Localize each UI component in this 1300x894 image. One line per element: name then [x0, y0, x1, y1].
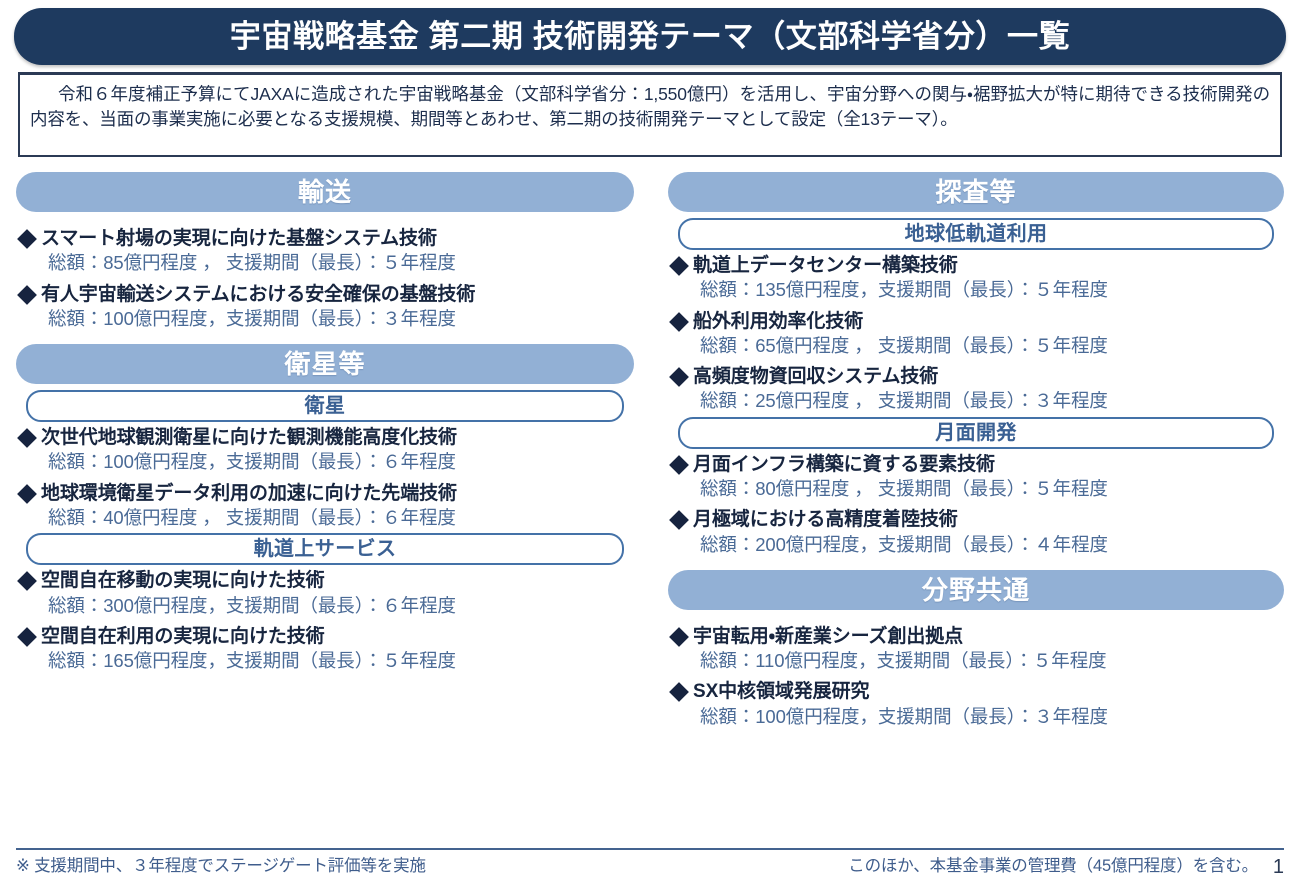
theme-heading: 宇宙転用・新産業シーズ創出拠点: [672, 626, 1284, 648]
theme-detail: 総額：65億円程度 ， 支援期間（最長）：５年程度: [700, 334, 1284, 357]
theme-item: 船外利用効率化技術総額：65億円程度 ， 支援期間（最長）：５年程度: [668, 311, 1284, 358]
diamond-bullet-icon: [17, 627, 37, 647]
section-header-label: 衛星等: [284, 351, 365, 377]
theme-detail: 総額：100億円程度，支援期間（最長）：６年程度: [48, 450, 634, 473]
theme-item: 軌道上データセンター構築技術総額：135億円程度，支援期間（最長）：５年程度: [668, 255, 1284, 302]
slide-page: 宇宙戦略基金 第二期 技術開発テーマ（文部科学省分）一覧 令和６年度補正予算にて…: [0, 0, 1300, 894]
theme-detail: 総額：80億円程度 ， 支援期間（最長）：５年程度: [700, 477, 1284, 500]
diamond-bullet-icon: [17, 229, 37, 249]
section-header-label: 探査等: [935, 179, 1016, 205]
subsection-header-衛星: 衛星: [26, 390, 624, 422]
footer-divider: [16, 848, 1284, 850]
theme-heading: 有人宇宙輸送システムにおける安全確保の基盤技術: [20, 284, 634, 306]
diamond-bullet-icon: [669, 312, 689, 332]
spacer: [668, 616, 1284, 626]
theme-title: 空間自在移動の実現に向けた技術: [41, 570, 325, 592]
section-header-探査等: 探査等: [668, 172, 1284, 212]
diamond-bullet-icon: [669, 510, 689, 530]
theme-title: 地球環境衛星データ利用の加速に向けた先端技術: [41, 483, 457, 505]
theme-heading: 月極域における高精度着陸技術: [672, 509, 1284, 531]
theme-detail: 総額：165億円程度，支援期間（最長）：５年程度: [48, 649, 634, 672]
left-column: 輸送スマート射場の実現に向けた基盤システム技術総額：85億円程度 ， 支援期間（…: [16, 172, 634, 672]
subsection-header-label: 軌道上サービス: [254, 539, 397, 559]
page-title: 宇宙戦略基金 第二期 技術開発テーマ（文部科学省分）一覧: [230, 21, 1071, 52]
theme-heading: 地球環境衛星データ利用の加速に向けた先端技術: [20, 483, 634, 505]
theme-item: 月極域における高精度着陸技術総額：200億円程度，支援期間（最長）：４年程度: [668, 509, 1284, 556]
theme-title: 有人宇宙輸送システムにおける安全確保の基盤技術: [41, 284, 475, 306]
theme-title: 船外利用効率化技術: [693, 311, 863, 333]
theme-heading: 月面インフラ構築に資する要素技術: [672, 454, 1284, 476]
theme-item: 空間自在移動の実現に向けた技術総額：300億円程度，支援期間（最長）：６年程度: [16, 570, 634, 617]
theme-item: SX中核領域発展研究総額：100億円程度，支援期間（最長）：３年程度: [668, 681, 1284, 728]
theme-title: 高頻度物資回収システム技術: [693, 366, 938, 388]
diamond-bullet-icon: [17, 484, 37, 504]
theme-detail: 総額：25億円程度 ， 支援期間（最長）：３年程度: [700, 389, 1284, 412]
footer-right-group: このほか、本基金事業の管理費（45億円程度）を含む。 1: [848, 857, 1284, 877]
diamond-bullet-icon: [669, 455, 689, 475]
theme-list: スマート射場の実現に向けた基盤システム技術総額：85億円程度 ， 支援期間（最長…: [16, 228, 634, 330]
diamond-bullet-icon: [669, 682, 689, 702]
summary-box: 令和６年度補正予算にてJAXAに造成された宇宙戦略基金（文部科学省分：1,550…: [18, 72, 1282, 157]
theme-heading: SX中核領域発展研究: [672, 681, 1284, 703]
theme-detail: 総額：40億円程度 ， 支援期間（最長）：６年程度: [48, 506, 634, 529]
theme-title: 宇宙転用・新産業シーズ創出拠点: [693, 626, 963, 648]
diamond-bullet-icon: [669, 367, 689, 387]
subsection-header-label: 地球低軌道利用: [905, 224, 1048, 244]
section-header-label: 輸送: [298, 179, 352, 205]
summary-text: 令和６年度補正予算にてJAXAに造成された宇宙戦略基金（文部科学省分：1,550…: [30, 82, 1270, 132]
section-header-分野共通: 分野共通: [668, 570, 1284, 610]
theme-heading: 船外利用効率化技術: [672, 311, 1284, 333]
section-header-label: 分野共通: [922, 577, 1030, 603]
diamond-bullet-icon: [669, 627, 689, 647]
page-number: 1: [1272, 857, 1284, 877]
theme-detail: 総額：100億円程度，支援期間（最長）：３年程度: [700, 705, 1284, 728]
diamond-bullet-icon: [17, 571, 37, 591]
footer: ※ 支援期間中、３年程度でステージゲート評価等を実施 このほか、本基金事業の管理…: [16, 857, 1284, 877]
theme-heading: スマート射場の実現に向けた基盤システム技術: [20, 228, 634, 250]
subsection-header-地球低軌道利用: 地球低軌道利用: [678, 218, 1274, 250]
theme-item: 宇宙転用・新産業シーズ創出拠点総額：110億円程度，支援期間（最長）：５年程度: [668, 626, 1284, 673]
theme-title: スマート射場の実現に向けた基盤システム技術: [41, 228, 437, 250]
footer-note-right: このほか、本基金事業の管理費（45億円程度）を含む。: [848, 857, 1258, 877]
theme-item: 有人宇宙輸送システムにおける安全確保の基盤技術総額：100億円程度，支援期間（最…: [16, 284, 634, 331]
subsection-header-label: 衛星: [305, 396, 346, 416]
theme-detail: 総額：85億円程度 ， 支援期間（最長）：５年程度: [48, 251, 634, 274]
theme-detail: 総額：300億円程度，支援期間（最長）：６年程度: [48, 594, 634, 617]
section-header-衛星等: 衛星等: [16, 344, 634, 384]
theme-detail: 総額：110億円程度，支援期間（最長）：５年程度: [700, 649, 1284, 672]
theme-item: 空間自在利用の実現に向けた技術総額：165億円程度，支援期間（最長）：５年程度: [16, 626, 634, 673]
spacer: [16, 218, 634, 228]
theme-item: 高頻度物資回収システム技術総額：25億円程度 ， 支援期間（最長）：３年程度: [668, 366, 1284, 413]
theme-detail: 総額：200億円程度，支援期間（最長）：４年程度: [700, 533, 1284, 556]
diamond-bullet-icon: [669, 256, 689, 276]
theme-title: 次世代地球観測衛星に向けた観測機能高度化技術: [41, 427, 457, 449]
theme-heading: 空間自在移動の実現に向けた技術: [20, 570, 634, 592]
diamond-bullet-icon: [17, 428, 37, 448]
theme-item: スマート射場の実現に向けた基盤システム技術総額：85億円程度 ， 支援期間（最長…: [16, 228, 634, 275]
subsection-header-月面開発: 月面開発: [678, 417, 1274, 449]
theme-item: 月面インフラ構築に資する要素技術総額：80億円程度 ， 支援期間（最長）：５年程…: [668, 454, 1284, 501]
theme-item: 地球環境衛星データ利用の加速に向けた先端技術総額：40億円程度 ， 支援期間（最…: [16, 483, 634, 530]
theme-list: 次世代地球観測衛星に向けた観測機能高度化技術総額：100億円程度，支援期間（最長…: [16, 427, 634, 529]
subsection-header-label: 月面開発: [935, 423, 1017, 443]
section-block: 衛星等衛星次世代地球観測衛星に向けた観測機能高度化技術総額：100億円程度，支援…: [16, 344, 634, 672]
theme-item: 次世代地球観測衛星に向けた観測機能高度化技術総額：100億円程度，支援期間（最長…: [16, 427, 634, 474]
theme-list: 宇宙転用・新産業シーズ創出拠点総額：110億円程度，支援期間（最長）：５年程度S…: [668, 626, 1284, 728]
footer-note-left: ※ 支援期間中、３年程度でステージゲート評価等を実施: [16, 857, 426, 877]
theme-title: 軌道上データセンター構築技術: [693, 255, 958, 277]
page-title-bar: 宇宙戦略基金 第二期 技術開発テーマ（文部科学省分）一覧: [14, 8, 1286, 65]
theme-list: 空間自在移動の実現に向けた技術総額：300億円程度，支援期間（最長）：６年程度空…: [16, 570, 634, 672]
theme-title: 月極域における高精度着陸技術: [693, 509, 958, 531]
section-block: 輸送スマート射場の実現に向けた基盤システム技術総額：85億円程度 ， 支援期間（…: [16, 172, 634, 330]
theme-heading: 空間自在利用の実現に向けた技術: [20, 626, 634, 648]
diamond-bullet-icon: [17, 285, 37, 305]
section-block: 分野共通宇宙転用・新産業シーズ創出拠点総額：110億円程度，支援期間（最長）：５…: [668, 570, 1284, 728]
subsection-header-軌道上サービス: 軌道上サービス: [26, 533, 624, 565]
theme-title: 空間自在利用の実現に向けた技術: [41, 626, 325, 648]
theme-title: SX中核領域発展研究: [693, 681, 869, 703]
theme-detail: 総額：135億円程度，支援期間（最長）：５年程度: [700, 278, 1284, 301]
theme-list: 月面インフラ構築に資する要素技術総額：80億円程度 ， 支援期間（最長）：５年程…: [668, 454, 1284, 556]
theme-heading: 次世代地球観測衛星に向けた観測機能高度化技術: [20, 427, 634, 449]
theme-list: 軌道上データセンター構築技術総額：135億円程度，支援期間（最長）：５年程度船外…: [668, 255, 1284, 413]
section-header-輸送: 輸送: [16, 172, 634, 212]
theme-title: 月面インフラ構築に資する要素技術: [693, 454, 995, 476]
theme-heading: 高頻度物資回収システム技術: [672, 366, 1284, 388]
section-block: 探査等地球低軌道利用軌道上データセンター構築技術総額：135億円程度，支援期間（…: [668, 172, 1284, 556]
theme-heading: 軌道上データセンター構築技術: [672, 255, 1284, 277]
theme-detail: 総額：100億円程度，支援期間（最長）：３年程度: [48, 307, 634, 330]
right-column: 探査等地球低軌道利用軌道上データセンター構築技術総額：135億円程度，支援期間（…: [668, 172, 1284, 728]
